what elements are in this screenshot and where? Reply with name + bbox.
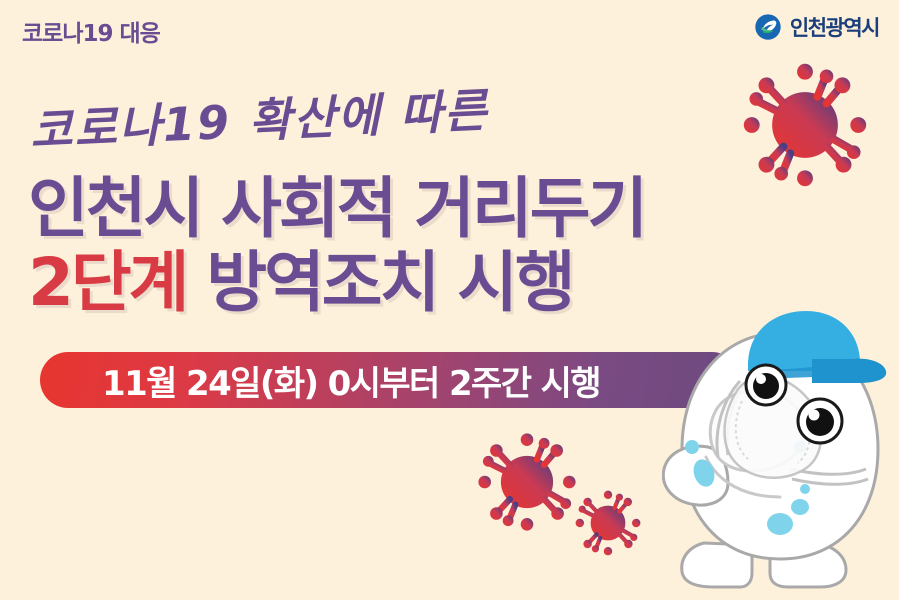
city-brand: 인천광역시 [754, 12, 879, 42]
incheon-swirl-logo-icon [754, 13, 782, 41]
poster-canvas: 코로나19 대응 인천광역시 코로나19 확산에 따른 인천시 사회적 거리두기… [0, 0, 899, 600]
headline-line-1: 인천시 사회적 거리두기 [28, 176, 645, 242]
spotted-seal-mascot [662, 297, 899, 600]
date-banner-label: 11월 24일(화) 0시부터 2주간 시행 [102, 356, 600, 405]
kicker-label: 코로나19 대응 [22, 14, 160, 48]
script-subhead: 코로나19 확산에 따른 [29, 74, 490, 161]
virus-small-icon [572, 487, 644, 559]
headline-line-2-rest: 방역조치 시행 [186, 244, 572, 321]
date-banner: 11월 24일(화) 0시부터 2주간 시행 [40, 352, 740, 408]
city-name-label: 인천광역시 [790, 12, 879, 42]
virus-medium-icon [473, 428, 581, 536]
headline-stage-accent: 2단계 [28, 244, 186, 321]
virus-large-icon [737, 57, 873, 193]
headline-line-2: 2단계 방역조치 시행 [28, 250, 573, 316]
